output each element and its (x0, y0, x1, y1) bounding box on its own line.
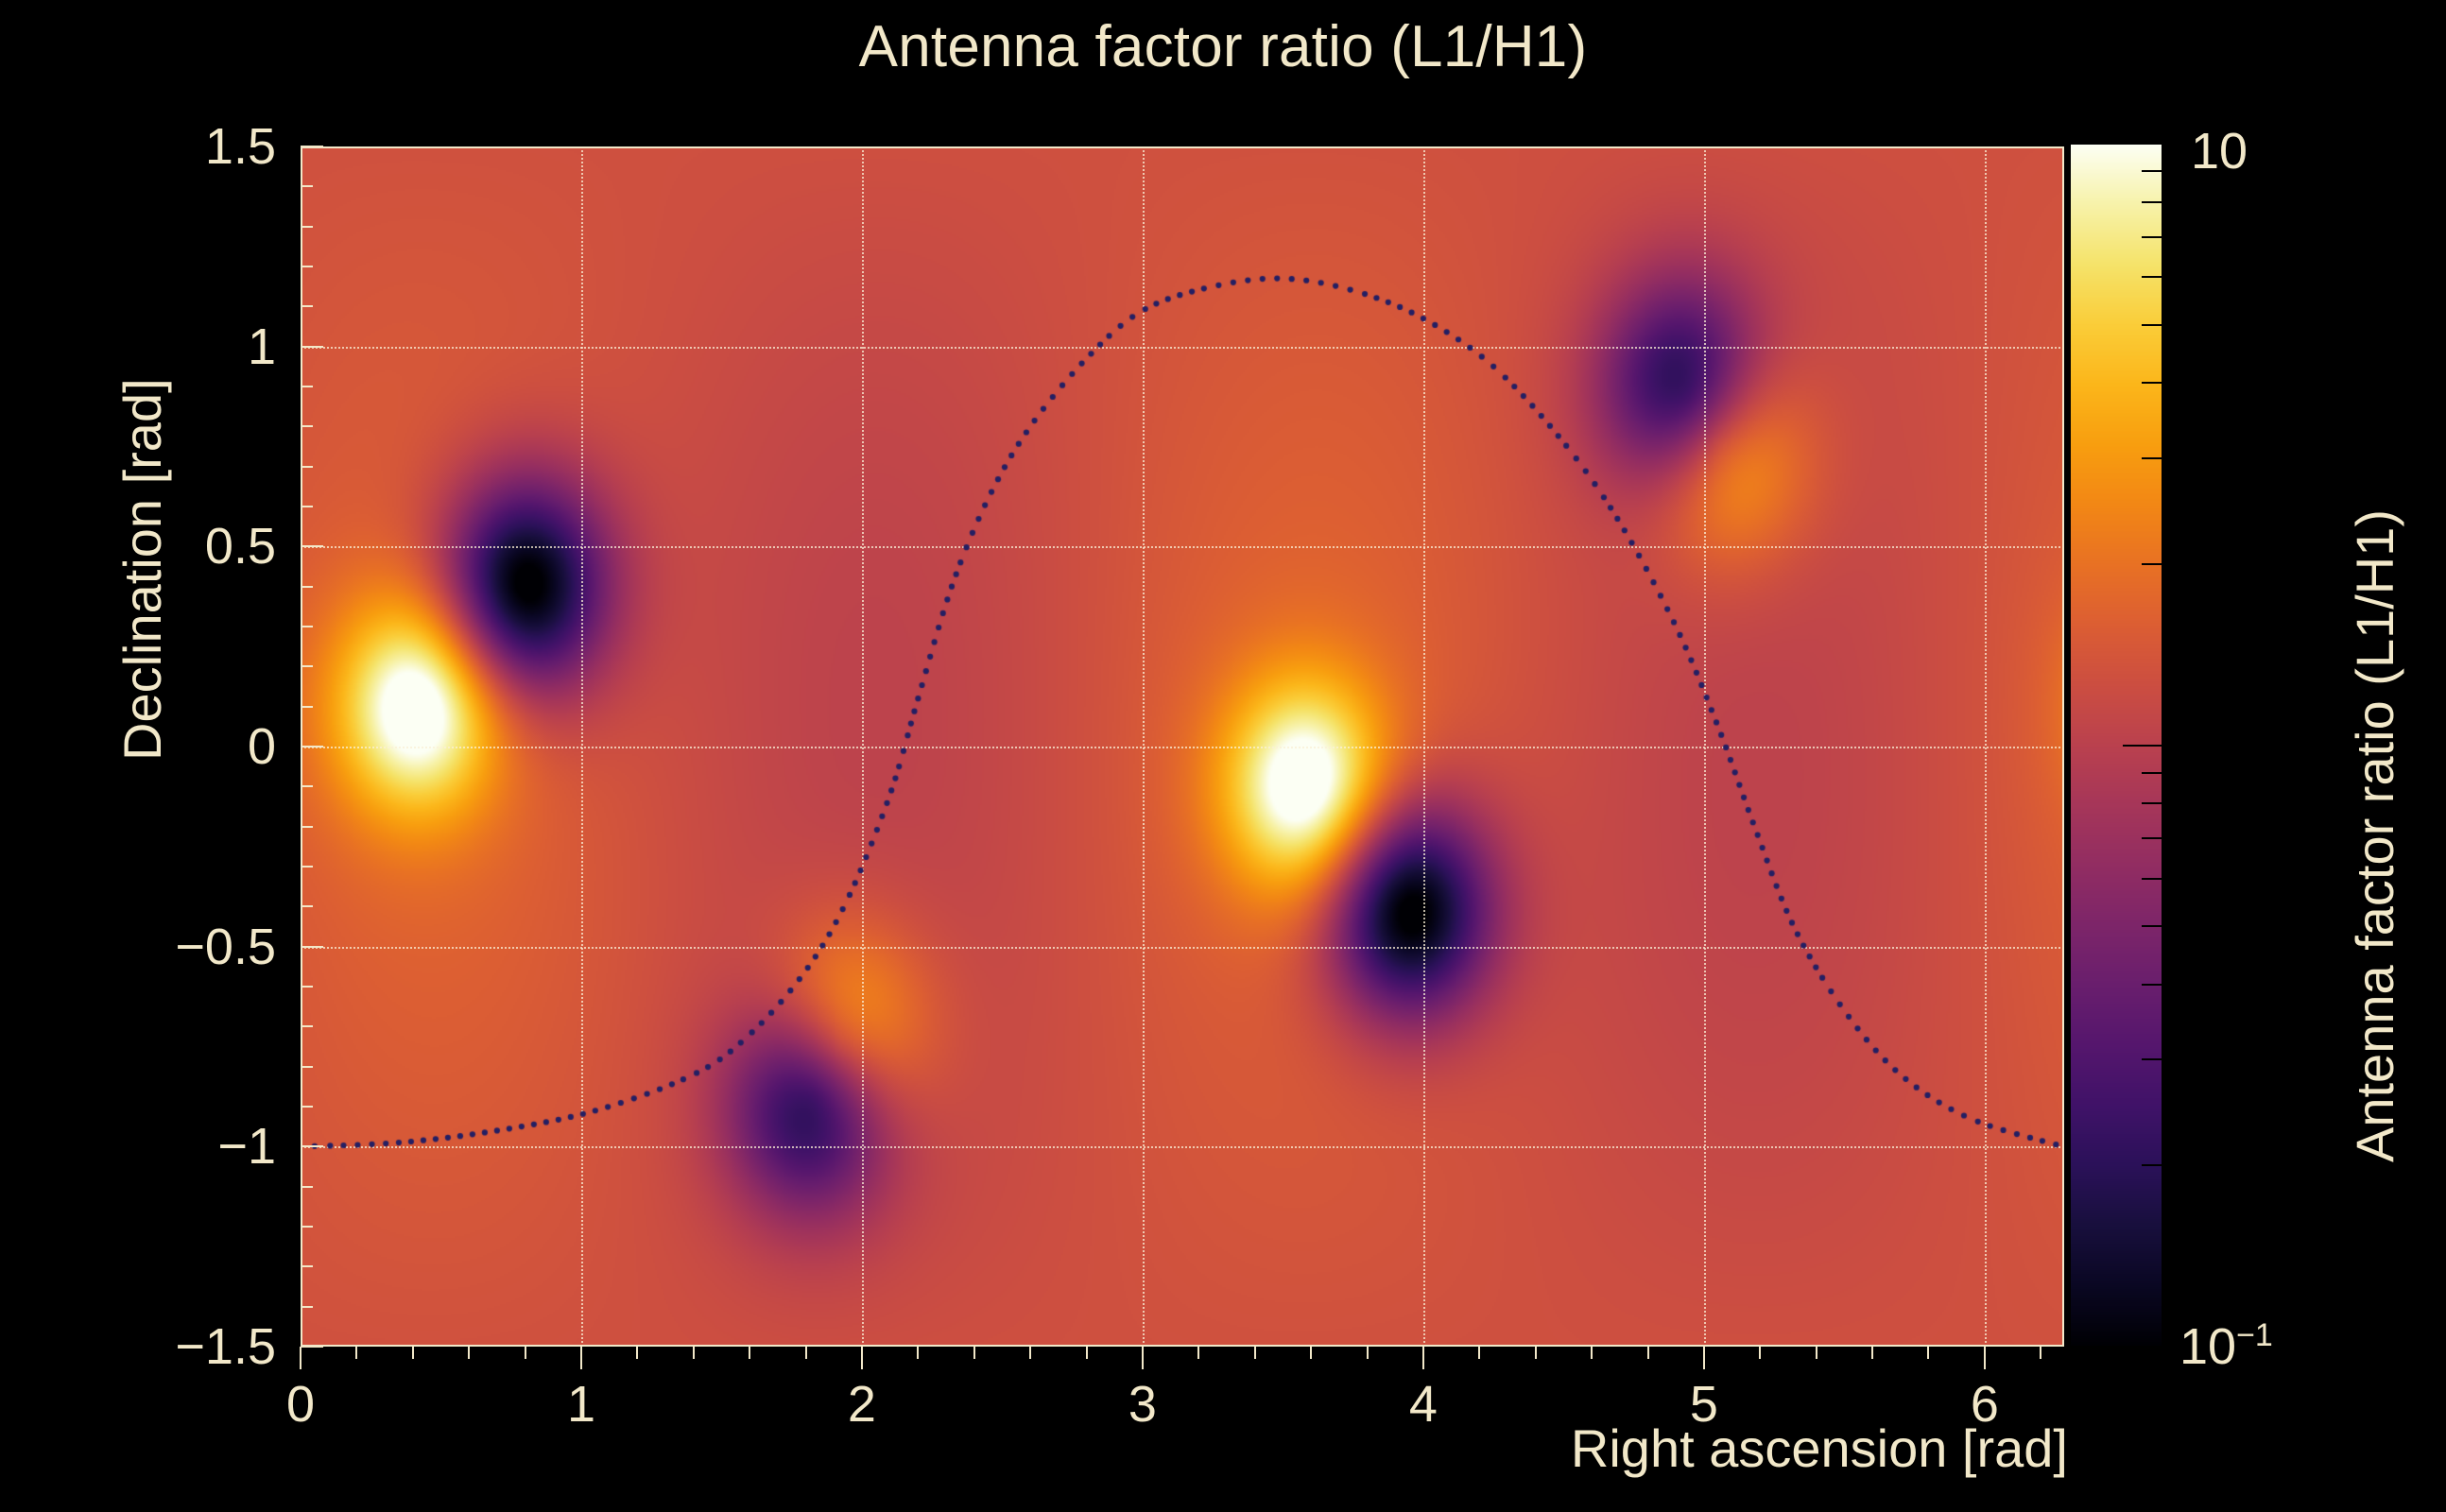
x-axis-tick (1703, 1347, 1705, 1369)
x-axis-minor-tick (1310, 1347, 1312, 1359)
x-axis-tick (1142, 1347, 1144, 1369)
x-axis-minor-tick (525, 1347, 526, 1359)
y-axis-minor-tick (301, 586, 313, 588)
x-axis-tick-label: 2 (848, 1375, 876, 1434)
x-axis-minor-tick (1254, 1347, 1256, 1359)
y-axis-minor-tick (301, 626, 313, 627)
y-axis-minor-tick (301, 986, 313, 988)
y-axis-tick-label: 1 (113, 318, 276, 376)
y-axis-minor-tick (301, 386, 313, 387)
colorbar-minor-tick (2142, 324, 2162, 326)
x-axis-minor-tick (1816, 1347, 1817, 1359)
x-axis-minor-tick (1367, 1347, 1369, 1359)
colorbar-minor-tick (2142, 276, 2162, 278)
x-axis-tick (1984, 1347, 1986, 1369)
y-axis-minor-tick (301, 266, 313, 267)
y-axis-minor-tick (301, 665, 313, 667)
y-axis-minor-tick (301, 226, 313, 228)
colorbar-minor-tick (2142, 802, 2162, 804)
x-axis-title: Right ascension [rad] (1571, 1417, 2068, 1479)
colorbar-minor-tick (2142, 925, 2162, 927)
y-axis-tick (301, 746, 323, 747)
x-axis-minor-tick (1535, 1347, 1537, 1359)
y-axis-minor-tick (301, 305, 313, 307)
colorbar-label-min: 10−1 (2179, 1317, 2273, 1376)
x-axis-minor-tick (1871, 1347, 1873, 1359)
y-axis-tick-label: −0.5 (113, 918, 276, 976)
x-axis-minor-tick (805, 1347, 807, 1359)
colorbar-minor-tick (2142, 878, 2162, 880)
y-axis-minor-tick (301, 1186, 313, 1188)
x-axis-minor-tick (693, 1347, 695, 1359)
x-axis-minor-tick (1197, 1347, 1199, 1359)
y-axis-title: Declination [rad] (112, 378, 173, 761)
colorbar-major-tick (2123, 143, 2162, 145)
y-axis-tick (301, 146, 323, 147)
colorbar-label-min-exponent: −1 (2236, 1317, 2273, 1353)
y-axis-minor-tick (301, 425, 313, 427)
x-axis-minor-tick (2040, 1347, 2041, 1359)
x-axis-tick-label: 3 (1128, 1375, 1157, 1434)
x-axis-tick-label: 0 (286, 1375, 315, 1434)
x-axis-minor-tick (1647, 1347, 1649, 1359)
colorbar-minor-tick (2142, 1058, 2162, 1060)
x-axis-minor-tick (636, 1347, 638, 1359)
colorbar-minor-tick (2142, 457, 2162, 459)
x-axis-minor-tick (1029, 1347, 1031, 1359)
x-axis-minor-tick (412, 1347, 414, 1359)
x-axis-tick-label: 1 (567, 1375, 595, 1434)
y-axis-minor-tick (301, 905, 313, 907)
colorbar-label-max: 10 (2191, 122, 2248, 180)
y-axis-minor-tick (301, 466, 313, 468)
x-axis-minor-tick (1086, 1347, 1088, 1359)
x-axis-minor-tick (973, 1347, 975, 1359)
y-axis-minor-tick (301, 1025, 313, 1027)
y-axis-minor-tick (301, 1066, 313, 1068)
y-axis-tick (301, 1145, 323, 1147)
y-axis-minor-tick (301, 1226, 313, 1228)
y-axis-tick-label: 1.5 (113, 117, 276, 176)
x-axis-minor-tick (1591, 1347, 1593, 1359)
overlay-curve (301, 146, 2064, 1347)
x-axis-minor-tick (1927, 1347, 1929, 1359)
colorbar-minor-tick (2142, 837, 2162, 839)
x-axis-tick (1422, 1347, 1424, 1369)
y-axis-minor-tick (301, 1106, 313, 1108)
y-axis-minor-tick (301, 1265, 313, 1267)
x-axis-minor-tick (1759, 1347, 1761, 1359)
y-axis-tick (301, 1346, 323, 1348)
x-axis-minor-tick (749, 1347, 750, 1359)
y-axis-tick (301, 346, 323, 348)
colorbar-label-min-mantissa: 10 (2179, 1318, 2236, 1375)
y-axis-minor-tick (301, 706, 313, 708)
colorbar-minor-tick (2142, 170, 2162, 172)
x-axis-minor-tick (355, 1347, 357, 1359)
colorbar-minor-tick (2142, 236, 2162, 238)
colorbar-minor-tick (2142, 984, 2162, 986)
y-axis-minor-tick (301, 185, 313, 187)
figure-canvas: Antenna factor ratio (L1/H1) 1.510.50−0.… (0, 0, 2446, 1512)
y-axis-tick-label: −1 (113, 1117, 276, 1176)
colorbar-title: Antenna factor ratio (L1/H1) (2344, 509, 2405, 1162)
y-axis-minor-tick (301, 1306, 313, 1308)
x-axis-minor-tick (468, 1347, 470, 1359)
chart-title: Antenna factor ratio (L1/H1) (0, 13, 2446, 80)
colorbar-major-tick (2123, 745, 2162, 747)
colorbar-minor-tick (2142, 563, 2162, 565)
y-axis-minor-tick (301, 785, 313, 787)
y-axis-tick-label: −1.5 (113, 1317, 276, 1376)
y-axis-minor-tick (301, 826, 313, 828)
colorbar-minor-tick (2142, 201, 2162, 203)
x-axis-tick (580, 1347, 582, 1369)
y-axis-minor-tick (301, 866, 313, 868)
x-axis-tick (861, 1347, 863, 1369)
x-axis-tick-label: 4 (1409, 1375, 1438, 1434)
colorbar-minor-tick (2142, 1164, 2162, 1166)
x-axis-minor-tick (917, 1347, 919, 1359)
x-axis-minor-tick (1478, 1347, 1480, 1359)
colorbar-major-tick (2123, 1346, 2162, 1348)
x-axis-tick (300, 1347, 301, 1369)
y-axis-tick (301, 545, 323, 547)
heatmap-plot-area[interactable] (301, 146, 2064, 1347)
y-axis-tick (301, 946, 323, 948)
colorbar-minor-tick (2142, 772, 2162, 774)
y-axis-minor-tick (301, 506, 313, 507)
colorbar-minor-tick (2142, 382, 2162, 384)
